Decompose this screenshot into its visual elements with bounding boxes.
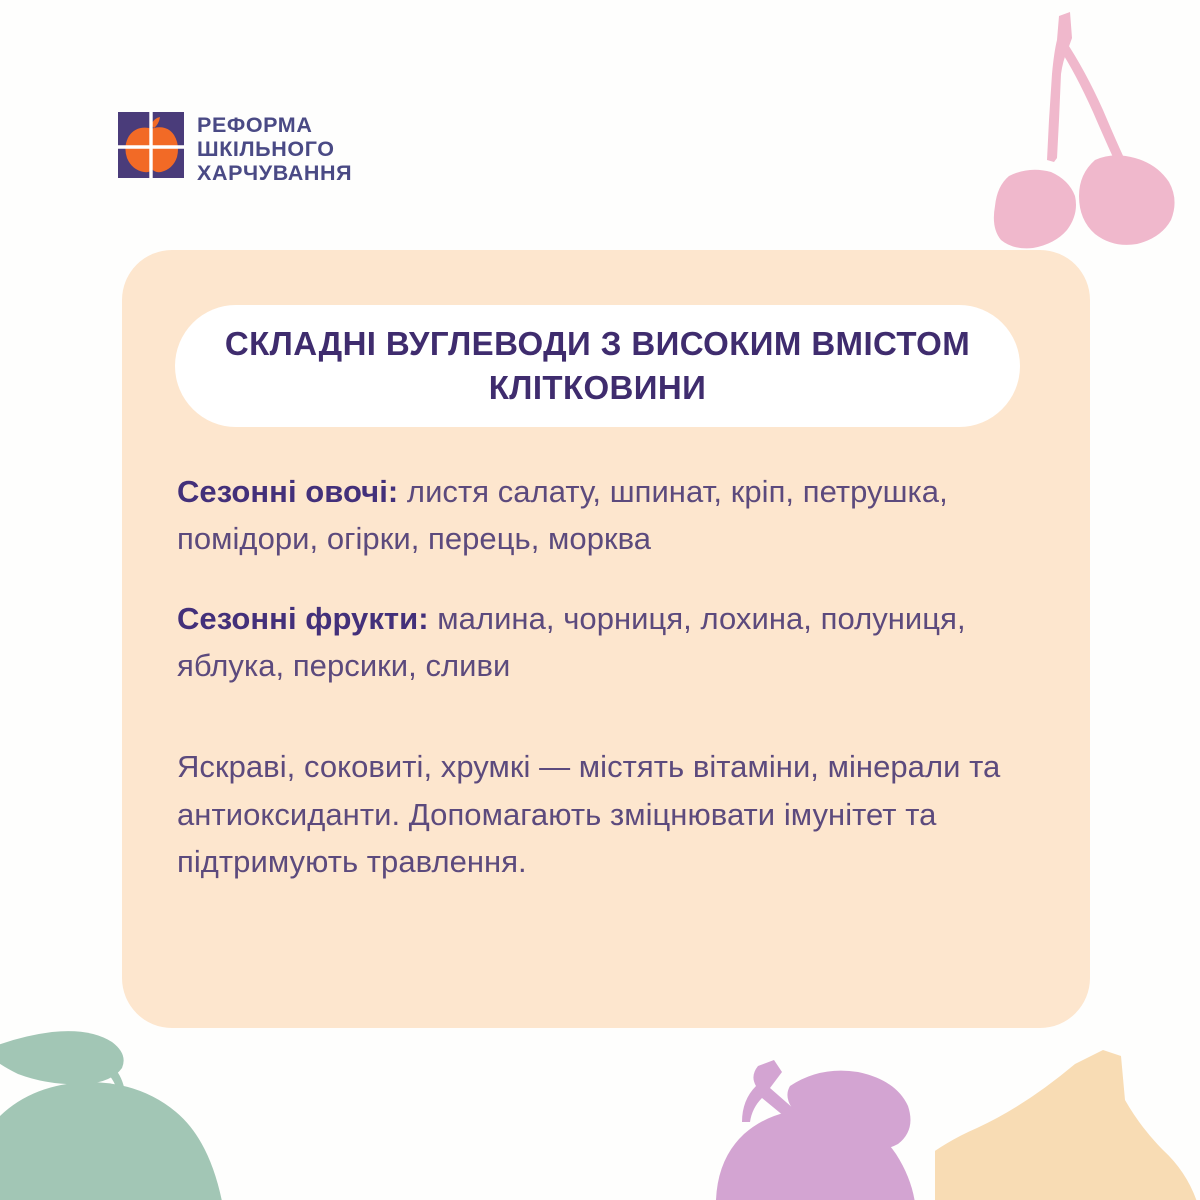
- purple-plum-illustration: [700, 1042, 990, 1200]
- paragraph-seasonal-vegetables: Сезонні овочі: листя салату, шпинат, крі…: [177, 468, 1037, 562]
- brand-logo: РЕФОРМА ШКІЛЬНОГО ХАРЧУВАННЯ: [118, 112, 352, 186]
- poster-canvas: РЕФОРМА ШКІЛЬНОГО ХАРЧУВАННЯ СКЛАДНІ ВУГ…: [0, 0, 1200, 1200]
- green-apple-illustration: [0, 1012, 250, 1200]
- logo-wordmark: РЕФОРМА ШКІЛЬНОГО ХАРЧУВАННЯ: [197, 112, 352, 186]
- paragraph-benefits-note: Яскраві, соковиті, хрумкі — містять віта…: [177, 743, 1037, 884]
- logo-line-2: ШКІЛЬНОГО: [197, 138, 352, 162]
- label-seasonal-fruits: Сезонні фрукти:: [177, 601, 429, 636]
- logo-line-1: РЕФОРМА: [197, 114, 352, 138]
- label-seasonal-vegetables: Сезонні овочі:: [177, 474, 398, 509]
- apple-in-square-logo-mark: [118, 112, 184, 178]
- page-title: СКЛАДНІ ВУГЛЕВОДИ З ВИСОКИМ ВМІСТОМ КЛІТ…: [175, 322, 1020, 410]
- title-pill: СКЛАДНІ ВУГЛЕВОДИ З ВИСОКИМ ВМІСТОМ КЛІТ…: [175, 305, 1020, 427]
- peach-illustration: [935, 1048, 1200, 1200]
- paragraph-seasonal-fruits: Сезонні фрукти: малина, чорниця, лохина,…: [177, 595, 1037, 689]
- content-card: СКЛАДНІ ВУГЛЕВОДИ З ВИСОКИМ ВМІСТОМ КЛІТ…: [122, 250, 1090, 1028]
- logo-line-3: ХАРЧУВАННЯ: [197, 162, 352, 186]
- body-copy: Сезонні овочі: листя салату, шпинат, крі…: [177, 468, 1037, 885]
- cherries-illustration: [975, 0, 1200, 250]
